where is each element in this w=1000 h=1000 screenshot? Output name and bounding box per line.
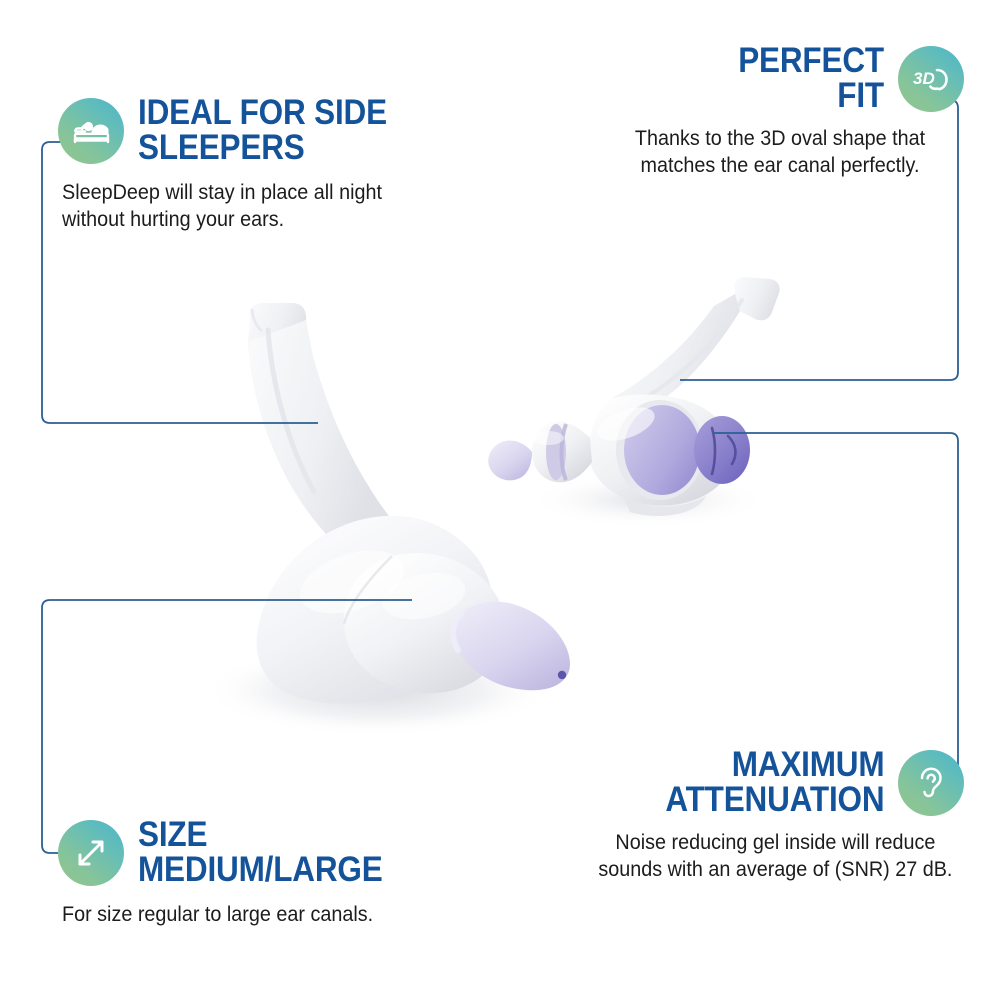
feature-headline: SIZE MEDIUM/LARGE — [138, 818, 383, 887]
feature-body: Noise reducing gel inside will reduce so… — [587, 829, 964, 881]
resize-arrow-icon — [58, 820, 124, 886]
feature-body: Thanks to the 3D oval shape that matches… — [596, 125, 964, 177]
feature-head: MAXIMUM ATTENUATION — [554, 748, 964, 817]
feature-body: SleepDeep will stay in place all night w… — [62, 179, 491, 231]
3d-ear-icon: 3D — [898, 46, 964, 112]
feature-size: SIZE MEDIUM/LARGE For size regular to la… — [58, 818, 528, 928]
cutaway-earplug — [488, 277, 779, 516]
feature-head: IDEAL FOR SIDE SLEEPERS — [58, 96, 528, 165]
feature-side-sleepers: IDEAL FOR SIDE SLEEPERS SleepDeep will s… — [58, 96, 528, 232]
infographic-page: IDEAL FOR SIDE SLEEPERS SleepDeep will s… — [0, 0, 1000, 1000]
ear-icon — [898, 750, 964, 816]
main-earplug — [248, 303, 570, 704]
feature-head: PERFECT FIT 3D — [564, 44, 964, 113]
vent-dot — [558, 671, 566, 679]
feature-headline: PERFECT FIT — [738, 44, 884, 113]
gel-core — [694, 416, 750, 484]
feature-head: SIZE MEDIUM/LARGE — [58, 818, 528, 887]
bed-sleeper-icon — [58, 98, 124, 164]
feature-attenuation: MAXIMUM ATTENUATION Noise reducing gel i… — [554, 748, 964, 882]
feature-body: For size regular to large ear canals. — [62, 901, 491, 927]
feature-headline: IDEAL FOR SIDE SLEEPERS — [138, 96, 387, 165]
feature-headline: MAXIMUM ATTENUATION — [665, 748, 884, 817]
feature-perfect-fit: PERFECT FIT 3D Thanks to the 3D oval sha… — [564, 44, 964, 178]
3d-icon-label: 3D — [913, 69, 935, 88]
